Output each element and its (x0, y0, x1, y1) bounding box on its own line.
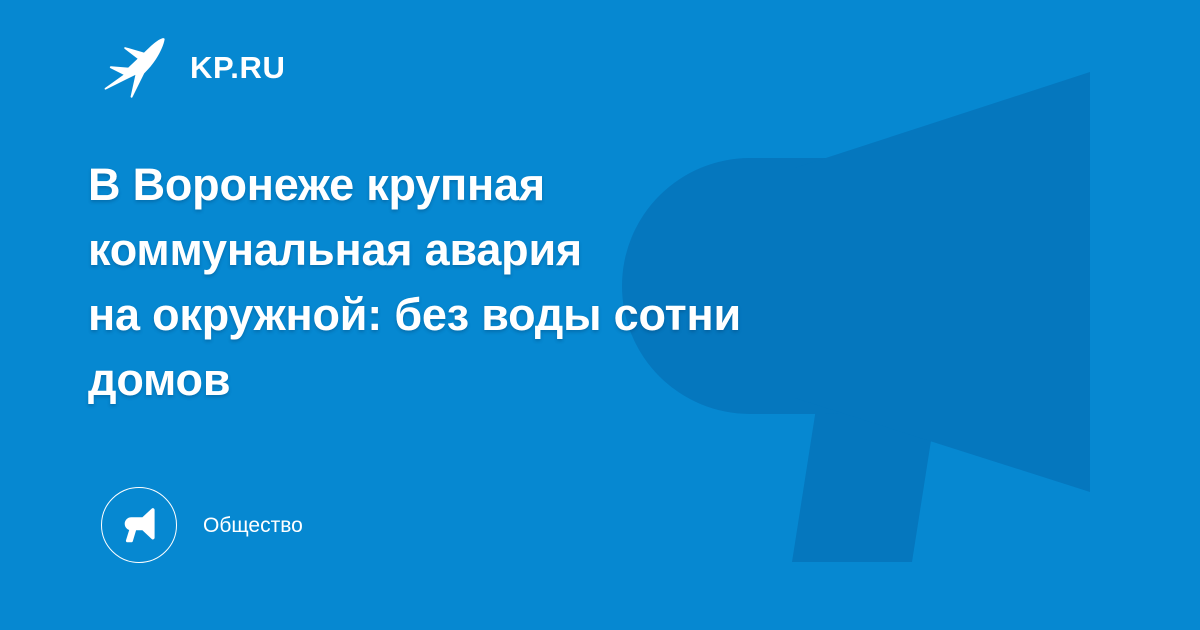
article-share-card: KP.RU В Воронеже крупная коммунальная ав… (0, 0, 1200, 630)
megaphone-icon (119, 507, 159, 543)
page-title: В Воронеже крупная коммунальная авария н… (88, 152, 988, 412)
site-logo[interactable]: KP.RU (104, 36, 285, 98)
category-label: Общество (203, 515, 303, 536)
site-logo-text: KP.RU (190, 52, 285, 83)
category-icon-circle (101, 487, 177, 563)
headline-line: на окружной: без воды сотни (88, 282, 988, 347)
headline-line: домов (88, 347, 988, 412)
category-badge[interactable]: Общество (101, 486, 303, 564)
headline-line: коммунальная авария (88, 217, 988, 282)
headline-line: В Воронеже крупная (88, 152, 988, 217)
swallow-bird-icon (104, 36, 172, 98)
